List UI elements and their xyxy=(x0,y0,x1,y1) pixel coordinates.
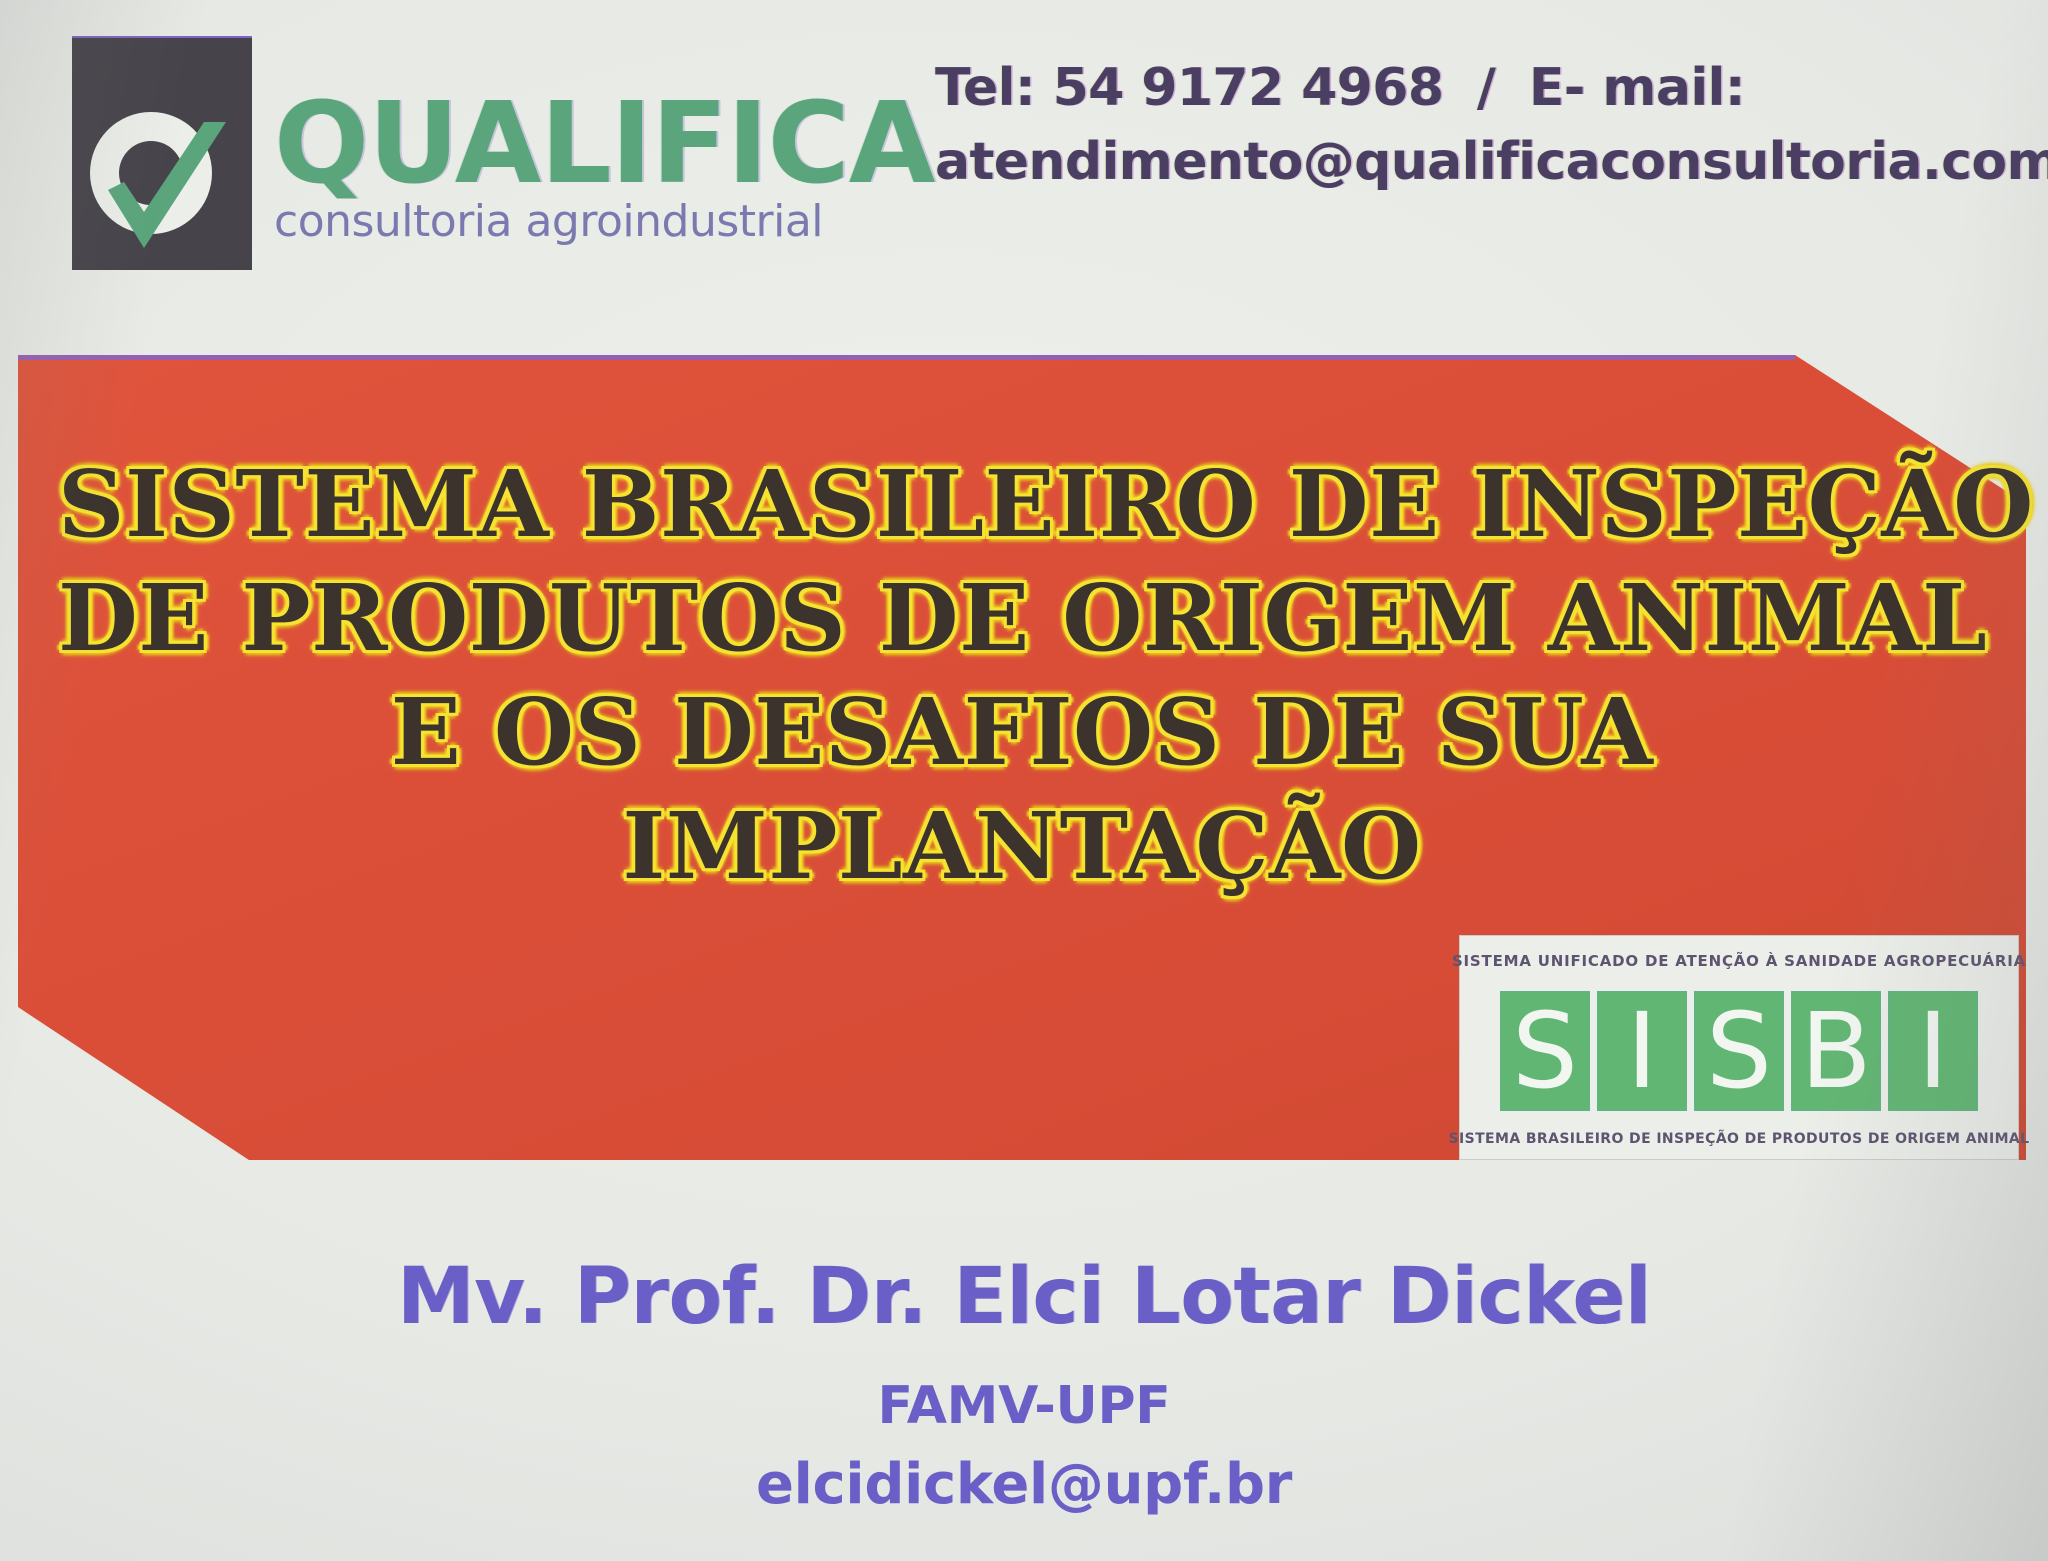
contact-email-value: atendimento@qualificaconsultoria.com.br xyxy=(935,126,2025,200)
presenter-name: Mv. Prof. Dr. Elci Lotar Dickel xyxy=(0,1252,2048,1342)
tel-label: Tel: xyxy=(935,58,1035,118)
contact-separator: / xyxy=(1461,58,1511,118)
sisbi-letter-5: I xyxy=(1888,991,1978,1111)
sisbi-letter-1: S xyxy=(1500,991,1590,1111)
slide-title-line-1: SISTEMA BRASILEIRO DE INSPEÇÃO xyxy=(58,447,1986,561)
sisbi-bottom-caption: SISTEMA BRASILEIRO DE INSPEÇÃO DE PRODUT… xyxy=(1449,1131,2030,1147)
presentation-slide: QUALIFICA consultoria agroindustrial Tel… xyxy=(0,0,2048,1561)
title-banner-keyline xyxy=(18,355,1795,360)
slide-title-line-2: DE PRODUTOS DE ORIGEM ANIMAL xyxy=(58,561,1986,675)
qualifica-wordmark: QUALIFICA xyxy=(274,96,934,192)
slide-title-line-4: IMPLANTAÇÃO xyxy=(58,789,1986,903)
slide-header: QUALIFICA consultoria agroindustrial Tel… xyxy=(0,0,2048,300)
qualifica-check-circle-icon xyxy=(72,38,252,270)
slide-title-line-3: E OS DESAFIOS DE SUA xyxy=(58,675,1986,789)
qualifica-wordmark-block: QUALIFICA consultoria agroindustrial xyxy=(274,96,934,244)
qualifica-logo: QUALIFICA consultoria agroindustrial xyxy=(72,38,934,270)
logo-checkmark-icon xyxy=(100,116,230,256)
tel-number: 54 9172 4968 xyxy=(1053,58,1444,118)
sisbi-letter-3: S xyxy=(1694,991,1784,1111)
slide-title: SISTEMA BRASILEIRO DE INSPEÇÃO DE PRODUT… xyxy=(18,447,2026,903)
sisbi-letter-blocks: S I S B I xyxy=(1500,991,1978,1111)
contact-info: Tel: 54 9172 4968 / E- mail: atendimento… xyxy=(935,52,2025,200)
contact-tel-line: Tel: 54 9172 4968 / E- mail: xyxy=(935,52,2025,126)
sisbi-logo: SISTEMA UNIFICADO DE ATENÇÃO À SANIDADE … xyxy=(1459,935,2019,1160)
sisbi-letter-4: B xyxy=(1791,991,1881,1111)
presenter-email: elcidickel@upf.br xyxy=(0,1452,2048,1517)
presenter-affiliation: FAMV-UPF xyxy=(0,1376,2048,1436)
sisbi-top-caption: SISTEMA UNIFICADO DE ATENÇÃO À SANIDADE … xyxy=(1452,952,2026,970)
sisbi-letter-2: I xyxy=(1597,991,1687,1111)
email-label: E- mail: xyxy=(1529,58,1745,118)
